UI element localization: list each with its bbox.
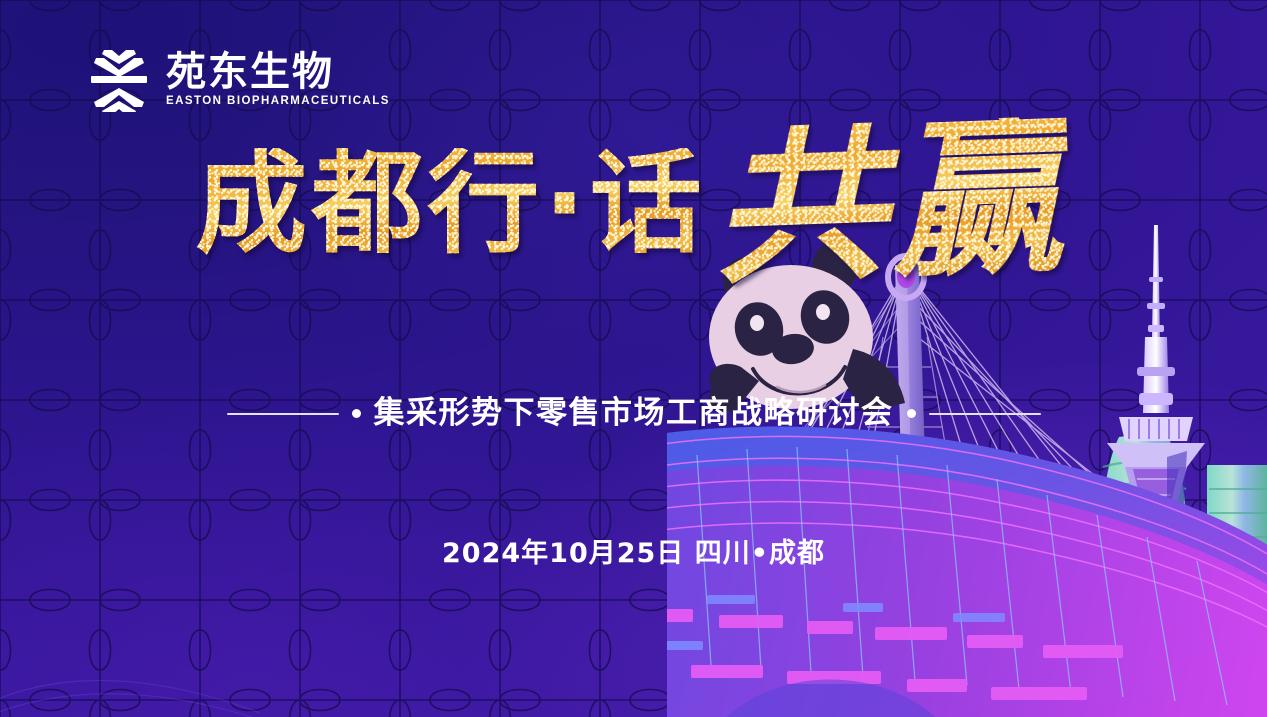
brand-name-cn: 苑东生物	[166, 51, 390, 93]
easton-chevron-mark-icon	[88, 46, 150, 112]
subtitle-text: 集采形势下零售市场工商战略研讨会	[374, 398, 894, 429]
subtitle-dot-left	[352, 409, 361, 418]
brand-name-en: EASTON BIOPHARMACEUTICALS	[166, 95, 390, 108]
subtitle-rule-right	[929, 413, 1041, 415]
date-location-text: 2024年10月25日 四川•成都	[442, 538, 825, 569]
date-location-line: 2024年10月25日 四川•成都	[0, 531, 1267, 570]
subtitle-rule-left	[227, 413, 339, 415]
event-banner: 苑东生物 EASTON BIOPHARMACEUTICALS 成都行·话 共赢 …	[0, 0, 1267, 717]
subtitle-dot-right	[907, 409, 916, 418]
brand-wordmark: 苑东生物 EASTON BIOPHARMACEUTICALS	[166, 51, 390, 108]
subtitle-row: 集采形势下零售市场工商战略研讨会	[0, 398, 1267, 429]
brand-logo: 苑东生物 EASTON BIOPHARMACEUTICALS	[88, 46, 390, 112]
